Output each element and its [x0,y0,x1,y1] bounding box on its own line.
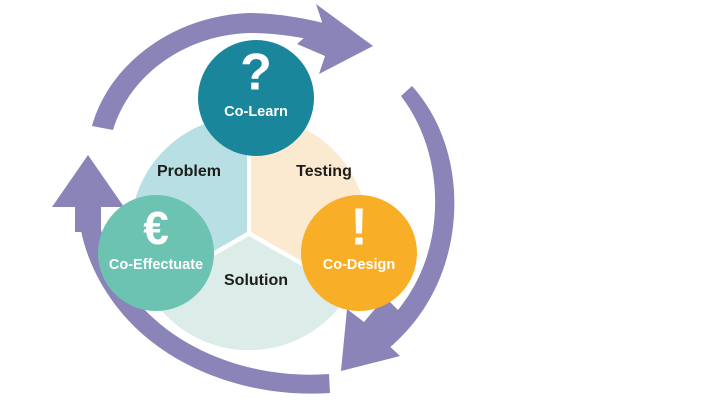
cocreation-cycle-diagram: Problem Testing Solution € Co-Effectuate… [0,0,720,405]
node-co-effectuate[interactable]: € Co-Effectuate [98,195,214,311]
node-label-co-learn: Co-Learn [224,104,288,120]
euro-currency-icon: € [143,202,169,254]
node-label-co-effectuate: Co-Effectuate [109,257,203,273]
cycle-diagram-canvas: Problem Testing Solution € Co-Effectuate… [0,0,720,405]
segment-label-problem: Problem [157,163,221,180]
segment-label-solution: Solution [224,272,288,289]
node-co-learn[interactable]: ? Co-Learn [198,40,314,156]
node-co-design[interactable]: ! Co-Design [301,195,417,311]
segment-label-testing: Testing [296,163,352,180]
node-label-co-design: Co-Design [323,257,396,273]
exclamation-mark-icon: ! [350,199,367,257]
arrow-top-head [297,4,373,74]
question-mark-icon: ? [240,44,272,102]
